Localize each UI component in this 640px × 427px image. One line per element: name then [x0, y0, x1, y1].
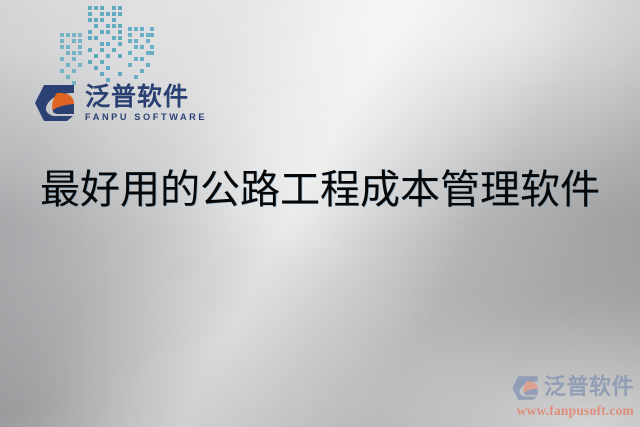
- watermark-name-cn: 泛普软件: [544, 377, 634, 399]
- fanpu-logo-name-en: FANPU SOFTWARE: [85, 112, 207, 122]
- fanpu-logo: 泛普软件 FANPU SOFTWARE: [33, 83, 207, 123]
- fanpu-logo-text: 泛普软件 FANPU SOFTWARE: [85, 84, 207, 122]
- fanpu-logo-mark: [33, 83, 79, 123]
- watermark: 泛普软件 www.fanpusoft.com: [486, 375, 634, 419]
- promo-banner: 泛普软件 FANPU SOFTWARE 最好用的公路工程成本管理软件 泛普软件 …: [0, 0, 640, 427]
- watermark-logo-row: 泛普软件: [486, 375, 634, 401]
- pixel-skyline-graphic: [58, 0, 158, 86]
- fanpu-logo-name-cn: 泛普软件: [85, 84, 207, 110]
- page-title: 最好用的公路工程成本管理软件: [0, 157, 640, 215]
- watermark-url: www.fanpusoft.com: [486, 403, 634, 419]
- fanpu-watermark-mark: [511, 375, 541, 401]
